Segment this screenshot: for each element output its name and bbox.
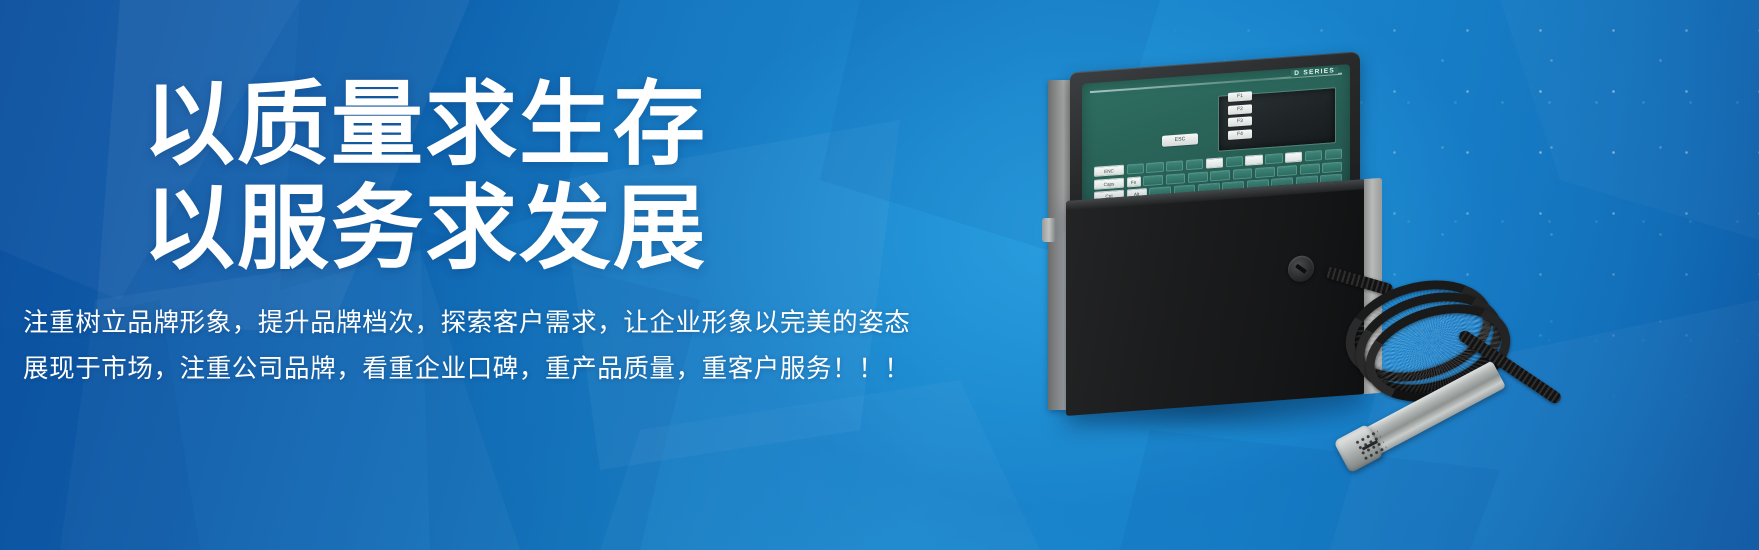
key[interactable]: [1305, 150, 1322, 161]
key[interactable]: [1255, 166, 1275, 177]
key-caps[interactable]: Caps: [1094, 177, 1124, 189]
product-image-inkjet-printer: D SERIES F1 F2 F3 F4 ESC ENC: [1020, 40, 1620, 510]
key[interactable]: [1233, 168, 1253, 179]
subcopy-line-1: 注重树立品牌形象，提升品牌档次，探索客户需求，让企业形象以完美的姿态: [23, 302, 1023, 346]
key[interactable]: [1210, 169, 1230, 180]
machine-cabinet: [1066, 179, 1366, 416]
function-key-f1[interactable]: F1: [1228, 91, 1252, 102]
key[interactable]: [1127, 163, 1144, 174]
headline-line-2: 以服务求发展: [143, 182, 1023, 276]
key[interactable]: [1226, 156, 1243, 167]
door-latch-icon[interactable]: [1288, 255, 1314, 283]
key[interactable]: [1206, 157, 1223, 168]
key[interactable]: [1188, 171, 1208, 182]
machine-side-knob: [1042, 218, 1056, 242]
key[interactable]: [1285, 152, 1302, 163]
key-enc[interactable]: ENC: [1094, 165, 1124, 177]
key[interactable]: [1322, 161, 1342, 172]
function-key-f2[interactable]: F2: [1228, 104, 1252, 115]
function-key-f3[interactable]: F3: [1228, 116, 1252, 127]
key[interactable]: [1300, 163, 1320, 174]
subcopy-line-2: 展现于市场，注重公司品牌，看重企业口碑，重产品质量，重客户服务！！！: [23, 348, 1023, 392]
headline-line-1: 以质量求生存: [143, 78, 1023, 172]
function-key-column: F1 F2 F3 F4: [1228, 91, 1252, 143]
key[interactable]: [1143, 174, 1163, 185]
key[interactable]: [1245, 154, 1262, 165]
key[interactable]: [1277, 165, 1297, 176]
esc-key[interactable]: ESC: [1162, 133, 1198, 147]
key[interactable]: [1186, 159, 1203, 170]
key[interactable]: [1265, 153, 1282, 164]
promo-banner: 以质量求生存 以服务求发展 注重树立品牌形象，提升品牌档次，探索客户需求，让企业…: [0, 0, 1759, 550]
key[interactable]: [1325, 149, 1342, 160]
key[interactable]: [1166, 173, 1186, 184]
key[interactable]: [1146, 162, 1163, 173]
key[interactable]: [1166, 160, 1183, 171]
headline-block: 以质量求生存 以服务求发展 注重树立品牌形象，提升品牌档次，探索客户需求，让企业…: [143, 78, 1023, 391]
key-fn[interactable]: Fn: [1127, 176, 1141, 187]
function-key-f4[interactable]: F4: [1228, 129, 1252, 140]
